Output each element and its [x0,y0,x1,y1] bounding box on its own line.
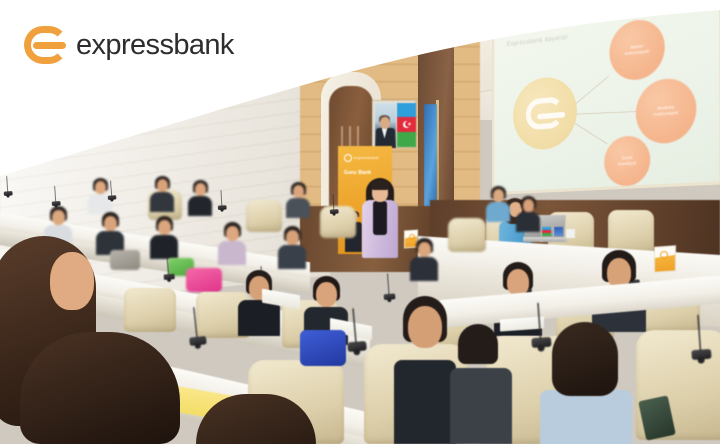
chair [246,200,282,232]
desk-flag [548,226,558,242]
slide-center-node [513,74,577,151]
expressbank-e-icon [24,26,68,64]
audience-member-foreground [20,332,180,444]
slide-node-1: Müştəri məmnuniyyəti [609,17,664,83]
audience-member [188,180,212,214]
audience-member [516,196,540,230]
brand-name: expressbank [76,29,234,62]
audience-member-foreground [540,322,632,444]
chair [448,218,486,252]
audience-member-foreground [450,324,512,444]
audience-member [286,182,310,216]
link-line [570,120,608,145]
audience-member-foreground [196,394,316,444]
audience-member-foreground [394,296,456,444]
bag [300,330,346,366]
wall-portrait [372,100,416,148]
audience-member [150,176,174,210]
chair [124,288,176,332]
audience-member [486,186,510,220]
slide-title: Expressbank dəyərlər [507,34,568,48]
slide-node-2: Əməkdaş məmnuniyyəti [636,76,696,145]
link-line [572,76,609,107]
presenter [358,178,402,258]
slide-node-3: Sosial məsuliyyət [604,135,650,187]
tent-card [654,245,676,273]
banner-logo: expressbank [344,154,374,162]
banner-headline: Gənc Bank [344,170,371,176]
audience-member [278,226,306,266]
audience-member [410,238,438,278]
photo-canvas: Expressbank dəyərlər Müştəri məmnuniyyət… [0,0,720,444]
link-line [574,111,642,115]
bag [110,250,140,270]
expressbank-e-icon [526,96,564,130]
desk-flag [560,228,570,244]
audience-member [150,216,178,256]
bag [186,268,222,292]
expressbank-logo: expressbank [24,26,234,64]
audience-member [218,222,246,262]
azerbaijan-flag-icon [397,103,416,148]
